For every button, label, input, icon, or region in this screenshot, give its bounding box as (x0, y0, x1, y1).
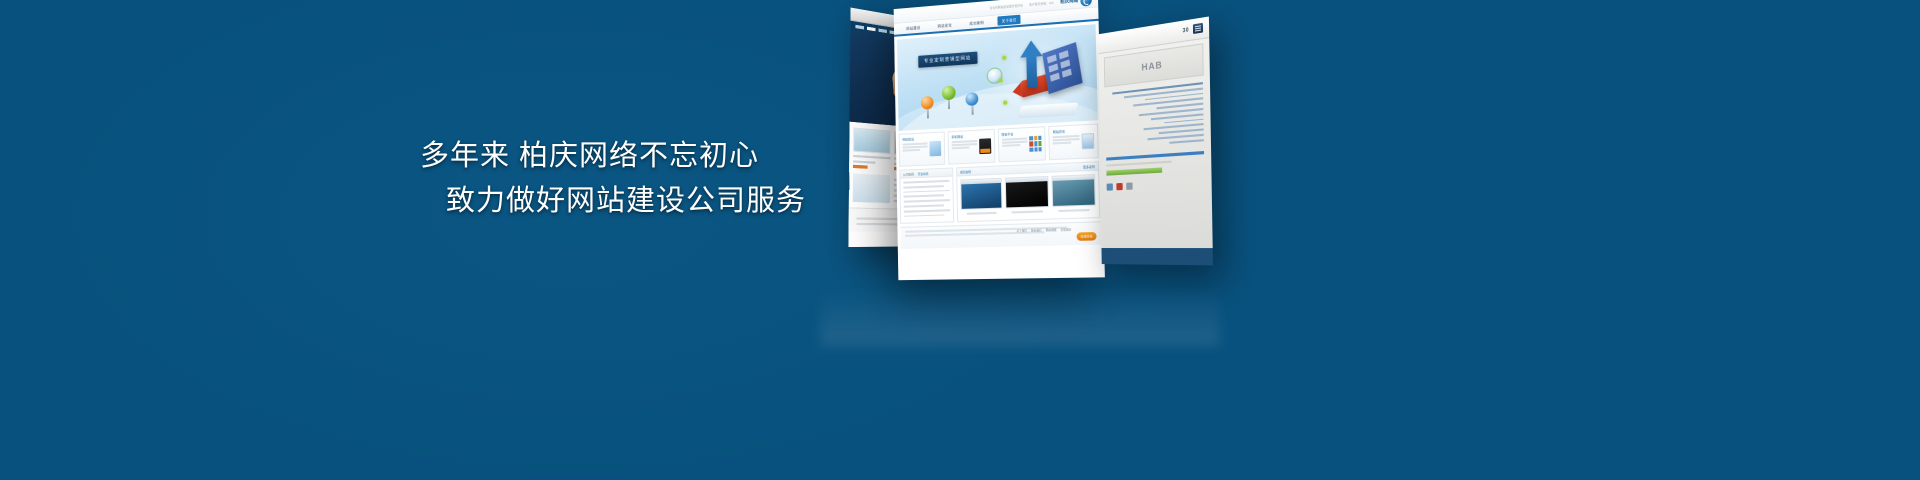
footer-link-1[interactable]: 联系我们 (1031, 229, 1042, 233)
text-line (951, 143, 976, 146)
case-item[interactable] (1005, 176, 1049, 214)
case-thumbnail (960, 178, 1003, 210)
grid-cell (1030, 147, 1033, 152)
news-module: 公司新闻 行业动态 (899, 168, 954, 225)
cases-title: 成功案例 (960, 169, 971, 174)
news-list (900, 177, 953, 224)
app-icon-gray (1126, 182, 1132, 189)
center-window-footer: 关于我们 联系我们 网站地图 友情链接 在线咨询 (900, 222, 1101, 250)
accent-dot (1002, 55, 1006, 59)
footer-link-3[interactable]: 友情链接 (1060, 228, 1071, 232)
text-line (1002, 144, 1020, 147)
news-tab-1-active[interactable]: 行业动态 (918, 171, 929, 175)
right-window-sub-bar (1106, 160, 1171, 166)
grid-cell (1034, 136, 1037, 141)
grid-column (853, 174, 890, 203)
banner-headline: 多年来 柏庆网络不忘初心 致力做好网站建设公司服务 (420, 136, 806, 221)
nav-item-2[interactable]: 成功案例 (965, 17, 988, 28)
cube-cell (1048, 64, 1058, 73)
hero-banner-title: 专业定制营销型网站 (918, 52, 977, 68)
feature-card-text: 网站建设 (903, 136, 928, 162)
case-thumbnail (1005, 176, 1049, 209)
nav-item-3-active[interactable]: 关于我们 (998, 15, 1021, 26)
top-phone: 客户服务热线：400 (1029, 1, 1054, 7)
product-price (853, 165, 868, 169)
site-logo[interactable]: 柏庆网络 (1060, 0, 1092, 8)
right-window-icon-row (1100, 174, 1211, 195)
nav-pill-active (867, 26, 876, 31)
news-item[interactable] (904, 214, 945, 217)
center-window-lower: 公司新闻 行业动态 成功案例 更多案例 (899, 161, 1100, 224)
news-item[interactable] (904, 195, 945, 198)
product-card[interactable] (853, 127, 890, 169)
feature-card-title: 网站建设 (903, 136, 928, 141)
news-tab-0[interactable]: 公司新闻 (903, 172, 914, 176)
news-item[interactable] (904, 209, 950, 212)
nav-pill (855, 24, 864, 29)
center-window-hero-banner: 专业定制营销型网站 (897, 24, 1098, 131)
accent-dot (999, 78, 1003, 82)
cube-cell (1062, 69, 1072, 78)
footer-link-2[interactable]: 网站地图 (1046, 228, 1057, 232)
nav-item-0[interactable]: 网站建设 (902, 22, 924, 33)
headline-line-1: 多年来 柏庆网络不忘初心 (420, 136, 806, 176)
link-line[interactable] (1165, 118, 1204, 123)
cases-row (957, 171, 1099, 218)
tv-badge-icon (1193, 23, 1203, 34)
showcase-window-right[interactable]: 30 HAB (1098, 16, 1213, 265)
product-line (853, 155, 890, 159)
text-line (903, 146, 928, 149)
news-item[interactable] (904, 204, 945, 207)
feature-card-text: 手机网站 (951, 134, 977, 161)
hero-word: HAB (1141, 60, 1162, 73)
cube-cell (1059, 50, 1069, 59)
grid-cell (1038, 147, 1041, 152)
text-line (903, 149, 920, 151)
nav-item-1[interactable]: 网站优化 (934, 20, 956, 31)
cube-cell (1047, 55, 1057, 64)
folder-icon (929, 141, 941, 157)
top-slogan: 专业的网站建设服务提供商 (990, 3, 1024, 10)
blue-arrow-icon (1020, 40, 1043, 58)
case-caption (1012, 210, 1043, 213)
news-item[interactable] (903, 190, 949, 194)
feature-card-text: 微信平台 (1001, 131, 1027, 158)
feature-card-text: 网站优化 (1053, 129, 1080, 156)
grid-cell (1029, 136, 1032, 141)
monitor-icon (1081, 133, 1094, 149)
footer-link-0[interactable]: 关于我们 (1016, 229, 1027, 233)
product-line (853, 160, 875, 163)
news-item[interactable] (903, 180, 949, 184)
cases-module: 成功案例 更多案例 (956, 161, 1100, 222)
news-item[interactable] (904, 199, 950, 202)
feature-card-title: 微信平台 (1001, 131, 1027, 136)
text-line (952, 147, 970, 149)
news-item[interactable] (903, 185, 944, 188)
grid-cell (1029, 142, 1032, 147)
case-item[interactable] (1051, 174, 1096, 212)
grid-cell (1034, 147, 1037, 152)
showcase-window-center[interactable]: 专业的网站建设服务提供商 客户服务热线：400 柏庆网络 网站建设 网站优化 成… (894, 0, 1105, 280)
logo-title: 柏庆网络 (1060, 0, 1078, 5)
right-window-green-bar (1106, 167, 1162, 175)
case-item[interactable] (960, 178, 1003, 215)
feature-card[interactable]: 手机网站 (947, 129, 995, 165)
headline-line-2: 致力做好网站建设公司服务 (446, 181, 806, 221)
product-image (853, 127, 890, 153)
cases-more-link[interactable]: 更多案例 (1083, 164, 1095, 169)
online-consult-button[interactable]: 在线咨询 (1076, 232, 1096, 241)
text-line (1002, 141, 1028, 144)
app-icon-red (1116, 182, 1122, 189)
right-window-link-list (1099, 79, 1211, 153)
website-showcase: 在线咨询 专业的网站建设服务提供商 客户服务热线：400 柏庆网络 网站建设 网… (800, 0, 1220, 480)
grid-icon (1029, 136, 1042, 152)
case-thumbnail (1051, 174, 1096, 207)
side-consult-tab[interactable]: 在线咨询 (848, 172, 850, 190)
grid-cell (1038, 141, 1041, 146)
grid-thumb (853, 174, 890, 203)
text-line (1053, 142, 1072, 145)
grid-cell (1038, 136, 1041, 141)
logo-mark-icon (1080, 0, 1092, 6)
nav-pill (878, 28, 886, 33)
case-caption (1058, 209, 1090, 212)
link-line[interactable] (1169, 139, 1204, 144)
feature-card-title: 网站优化 (1053, 129, 1080, 135)
phone-icon (979, 138, 991, 154)
feature-card[interactable]: 网站建设 (899, 131, 945, 166)
footer-links[interactable]: 关于我们 联系我们 网站地图 友情链接 (1016, 228, 1071, 234)
grid-cell (1034, 141, 1037, 146)
feature-card[interactable]: 网站优化 (1048, 123, 1098, 160)
text-line (1053, 138, 1080, 141)
feature-card[interactable]: 微信平台 (997, 126, 1046, 162)
case-caption (967, 212, 997, 215)
feature-cards: 网站建设 手机网站 微信平台 (899, 123, 1099, 166)
cube-cell (1060, 60, 1070, 69)
right-window-footer (1102, 248, 1213, 265)
header-number: 30 (1183, 27, 1190, 34)
app-icon-blue (1107, 183, 1113, 190)
cube-cell (1050, 73, 1060, 82)
feature-card-title: 手机网站 (951, 134, 976, 139)
